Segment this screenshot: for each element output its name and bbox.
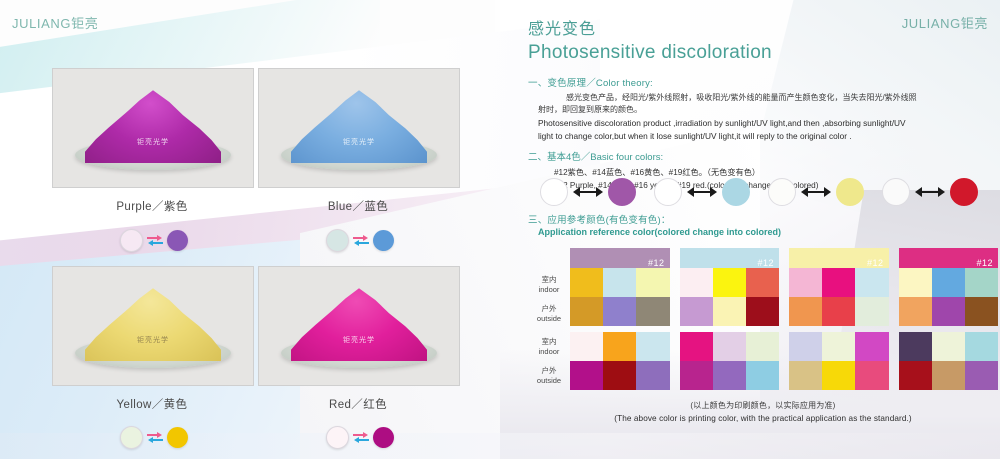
swatch-cell[interactable] [636, 268, 669, 297]
swatch-cell[interactable] [932, 297, 965, 326]
swatch-after [373, 230, 394, 251]
swatch-cell[interactable] [965, 332, 998, 361]
swatch-block[interactable] [899, 332, 999, 390]
swatch-cell[interactable] [899, 268, 932, 297]
watermark-text: 钜亮光学 [343, 137, 375, 147]
pigment-powder-heap [85, 288, 221, 361]
row-label-en: outside [537, 376, 561, 385]
swatch-cell[interactable] [746, 361, 779, 390]
logo-left: JULIANG钜亮 [12, 13, 98, 32]
swatch-block[interactable]: #12 [680, 248, 780, 328]
swatch-block[interactable]: #12 [899, 248, 999, 328]
product-photo: 钜亮光学 [52, 68, 254, 188]
swatch-cell[interactable] [789, 361, 822, 390]
color-change-indicator [120, 229, 188, 252]
watermark-text: 钜亮光学 [137, 137, 169, 147]
section-color-theory-heading: 一、变色原理／Color theory: [528, 75, 994, 89]
swatch-cell[interactable] [570, 268, 603, 297]
swatch-cell[interactable] [822, 361, 855, 390]
swatch-cell[interactable] [965, 268, 998, 297]
swatch-cell[interactable] [603, 268, 636, 297]
swatch-cell[interactable] [713, 297, 746, 326]
color-theory-en-line2: light to change color,but when it lose s… [538, 130, 994, 142]
pigment-powder-heap [291, 288, 427, 361]
swatch-after [167, 230, 188, 251]
swatch-cell[interactable] [713, 361, 746, 390]
product-photo: 钜亮光学 [52, 266, 254, 386]
basic-color-before [882, 178, 910, 206]
swatch-cell[interactable] [899, 332, 932, 361]
section-basic-colors-heading: 二、基本4色／Basic four colors: [528, 149, 994, 163]
basic-colors-swatch-row [540, 176, 996, 208]
section-color-theory-body-cn: 感光变色产品，经阳光/紫外线照射，吸收阳光/紫外线的能量而产生颜色变化，当失去阳… [538, 92, 994, 117]
swatch-cell[interactable] [899, 297, 932, 326]
swatch-before [326, 426, 349, 449]
swatch-cell[interactable] [932, 361, 965, 390]
basic-color-pair [540, 178, 654, 206]
swatch-cell[interactable] [570, 332, 603, 361]
swatch-cell[interactable] [603, 332, 636, 361]
swatch-cell[interactable] [680, 332, 713, 361]
swatch-block-label: #12 [680, 248, 780, 268]
page-title-en: Photosensitive discoloration [528, 41, 994, 66]
row-label-outside: 户外outside [528, 361, 570, 390]
section-color-theory: 一、变色原理／Color theory: 感光变色产品，经阳光/紫外线照射，吸收… [528, 75, 994, 143]
swatch-cell[interactable] [636, 297, 669, 326]
color-theory-cn-line2: 射时，即回复到原来的颜色。 [538, 105, 642, 114]
swatch-cells [899, 332, 999, 390]
row-label-indoor: 室内indoor [528, 270, 570, 299]
row-label-cn: 室内 [542, 275, 557, 284]
color-theory-cn-line1: 感光变色产品，经阳光/紫外线照射，吸收阳光/紫外线的能量而产生颜色变化，当失去阳… [538, 92, 994, 104]
transition-arrows-icon [147, 236, 163, 245]
swatch-cell[interactable] [603, 361, 636, 390]
section-application: 三、应用参考颜色(有色变有色)： Application reference c… [528, 212, 994, 237]
transition-arrows-icon [353, 433, 369, 442]
swatch-cell[interactable] [746, 297, 779, 326]
swatch-block-label: #12 [899, 248, 999, 268]
application-color-grid: 室内indoor户外outside#12#12#12#12室内indoor户外o… [528, 248, 998, 394]
basic-color-before [768, 178, 796, 206]
row-label-cn: 户外 [542, 304, 557, 313]
swatch-cells [570, 332, 670, 390]
color-change-indicator [326, 229, 394, 252]
basic-color-pair [882, 178, 996, 206]
swatch-cells [899, 268, 999, 326]
swatch-cell[interactable] [899, 361, 932, 390]
double-arrow-icon [801, 187, 831, 197]
swatch-before [120, 426, 143, 449]
swatch-block[interactable] [680, 332, 780, 390]
swatch-cell[interactable] [570, 297, 603, 326]
swatch-cell[interactable] [746, 268, 779, 297]
swatch-cell[interactable] [932, 332, 965, 361]
color-change-indicator [326, 426, 394, 449]
basic-color-after [608, 178, 636, 206]
pigment-powder-heap [85, 90, 221, 163]
transition-arrows-icon [147, 433, 163, 442]
basic-color-after [836, 178, 864, 206]
swatch-cell[interactable] [822, 268, 855, 297]
row-label-group: 室内indoor户外outside [528, 248, 570, 328]
product-photo: 钜亮光学 [258, 266, 460, 386]
double-arrow-icon [573, 187, 603, 197]
basic-color-before [540, 178, 568, 206]
section-color-theory-body-en: Photosensitive discoloration product ,ir… [538, 117, 994, 142]
swatch-block[interactable]: #12 [570, 248, 670, 328]
basic-color-pair [768, 178, 882, 206]
swatch-block[interactable] [570, 332, 670, 390]
basic-color-after [950, 178, 978, 206]
swatch-before [120, 229, 143, 252]
powder-surface [291, 288, 427, 361]
grid-note-en: (The above color is printing color, with… [528, 414, 998, 423]
product-caption: Red／红色 [258, 396, 458, 412]
swatch-cells [789, 268, 889, 326]
swatch-cell[interactable] [713, 268, 746, 297]
swatch-cell[interactable] [680, 361, 713, 390]
swatch-cell[interactable] [713, 332, 746, 361]
watermark-text: 钜亮光学 [343, 335, 375, 345]
swatch-after [373, 427, 394, 448]
swatch-cell[interactable] [932, 268, 965, 297]
swatch-cell[interactable] [855, 361, 888, 390]
swatch-cell[interactable] [855, 268, 888, 297]
swatch-cell[interactable] [603, 297, 636, 326]
row-label-en: indoor [539, 347, 560, 356]
swatch-cell[interactable] [680, 268, 713, 297]
swatch-cells [680, 332, 780, 390]
row-label-group: 室内indoor户外outside [528, 332, 570, 390]
powder-surface [85, 288, 221, 361]
color-theory-en-line1: Photosensitive discoloration product ,ir… [538, 117, 994, 129]
row-label-indoor: 室内indoor [528, 332, 570, 361]
transition-arrows-icon [353, 236, 369, 245]
product-photo: 钜亮光学 [258, 68, 460, 188]
row-label-outside: 户外outside [528, 299, 570, 328]
swatch-cell[interactable] [636, 332, 669, 361]
swatch-after [167, 427, 188, 448]
row-label-en: outside [537, 314, 561, 323]
swatch-cell[interactable] [746, 332, 779, 361]
swatch-cells [680, 268, 780, 326]
swatch-cell[interactable] [822, 332, 855, 361]
page-title-cn: 感光变色 [528, 20, 994, 40]
swatch-block-label: #12 [789, 248, 889, 268]
poster-canvas: JULIANG钜亮 JULIANG钜亮 钜亮光学Purple／紫色钜亮光学Blu… [0, 0, 1000, 459]
swatch-cell[interactable] [855, 332, 888, 361]
product-caption: Yellow／黄色 [52, 396, 252, 412]
swatch-block[interactable]: #12 [789, 248, 889, 328]
swatch-cell[interactable] [965, 361, 998, 390]
swatch-block-group [570, 332, 998, 390]
swatch-cell[interactable] [789, 297, 822, 326]
row-label-cn: 室内 [542, 337, 557, 346]
product-caption: Blue／蓝色 [258, 198, 458, 214]
swatch-cell[interactable] [789, 268, 822, 297]
pigment-powder-heap [291, 90, 427, 163]
watermark-text: 钜亮光学 [137, 335, 169, 345]
swatch-cell[interactable] [822, 297, 855, 326]
swatch-cells [570, 268, 670, 326]
swatch-cell[interactable] [680, 297, 713, 326]
swatch-grid-row: 室内indoor户外outside#12#12#12#12 [528, 248, 998, 328]
swatch-block[interactable] [789, 332, 889, 390]
row-label-en: indoor [539, 285, 560, 294]
swatch-block-label: #12 [570, 248, 670, 268]
grid-note-cn: (以上颜色为印刷颜色，以实际应用为准) [528, 400, 998, 411]
basic-color-after [722, 178, 750, 206]
double-arrow-icon [915, 187, 945, 197]
product-caption: Purple／紫色 [52, 198, 252, 214]
swatch-cell[interactable] [965, 297, 998, 326]
section-application-heading-cn: 三、应用参考颜色(有色变有色)： [528, 212, 994, 226]
swatch-grid-row: 室内indoor户外outside [528, 332, 998, 390]
basic-color-before [654, 178, 682, 206]
swatch-cell[interactable] [636, 361, 669, 390]
swatch-before [326, 229, 349, 252]
row-label-cn: 户外 [542, 366, 557, 375]
basic-color-pair [654, 178, 768, 206]
section-application-heading-en: Application reference color(colored chan… [538, 227, 994, 237]
swatch-cells [789, 332, 889, 390]
double-arrow-icon [687, 187, 717, 197]
swatch-block-group: #12#12#12#12 [570, 248, 998, 328]
swatch-cell[interactable] [789, 332, 822, 361]
powder-surface [291, 90, 427, 163]
swatch-cell[interactable] [855, 297, 888, 326]
swatch-cell[interactable] [570, 361, 603, 390]
powder-surface [85, 90, 221, 163]
info-column: 感光变色 Photosensitive discoloration 一、变色原理… [528, 20, 994, 192]
color-change-indicator [120, 426, 188, 449]
